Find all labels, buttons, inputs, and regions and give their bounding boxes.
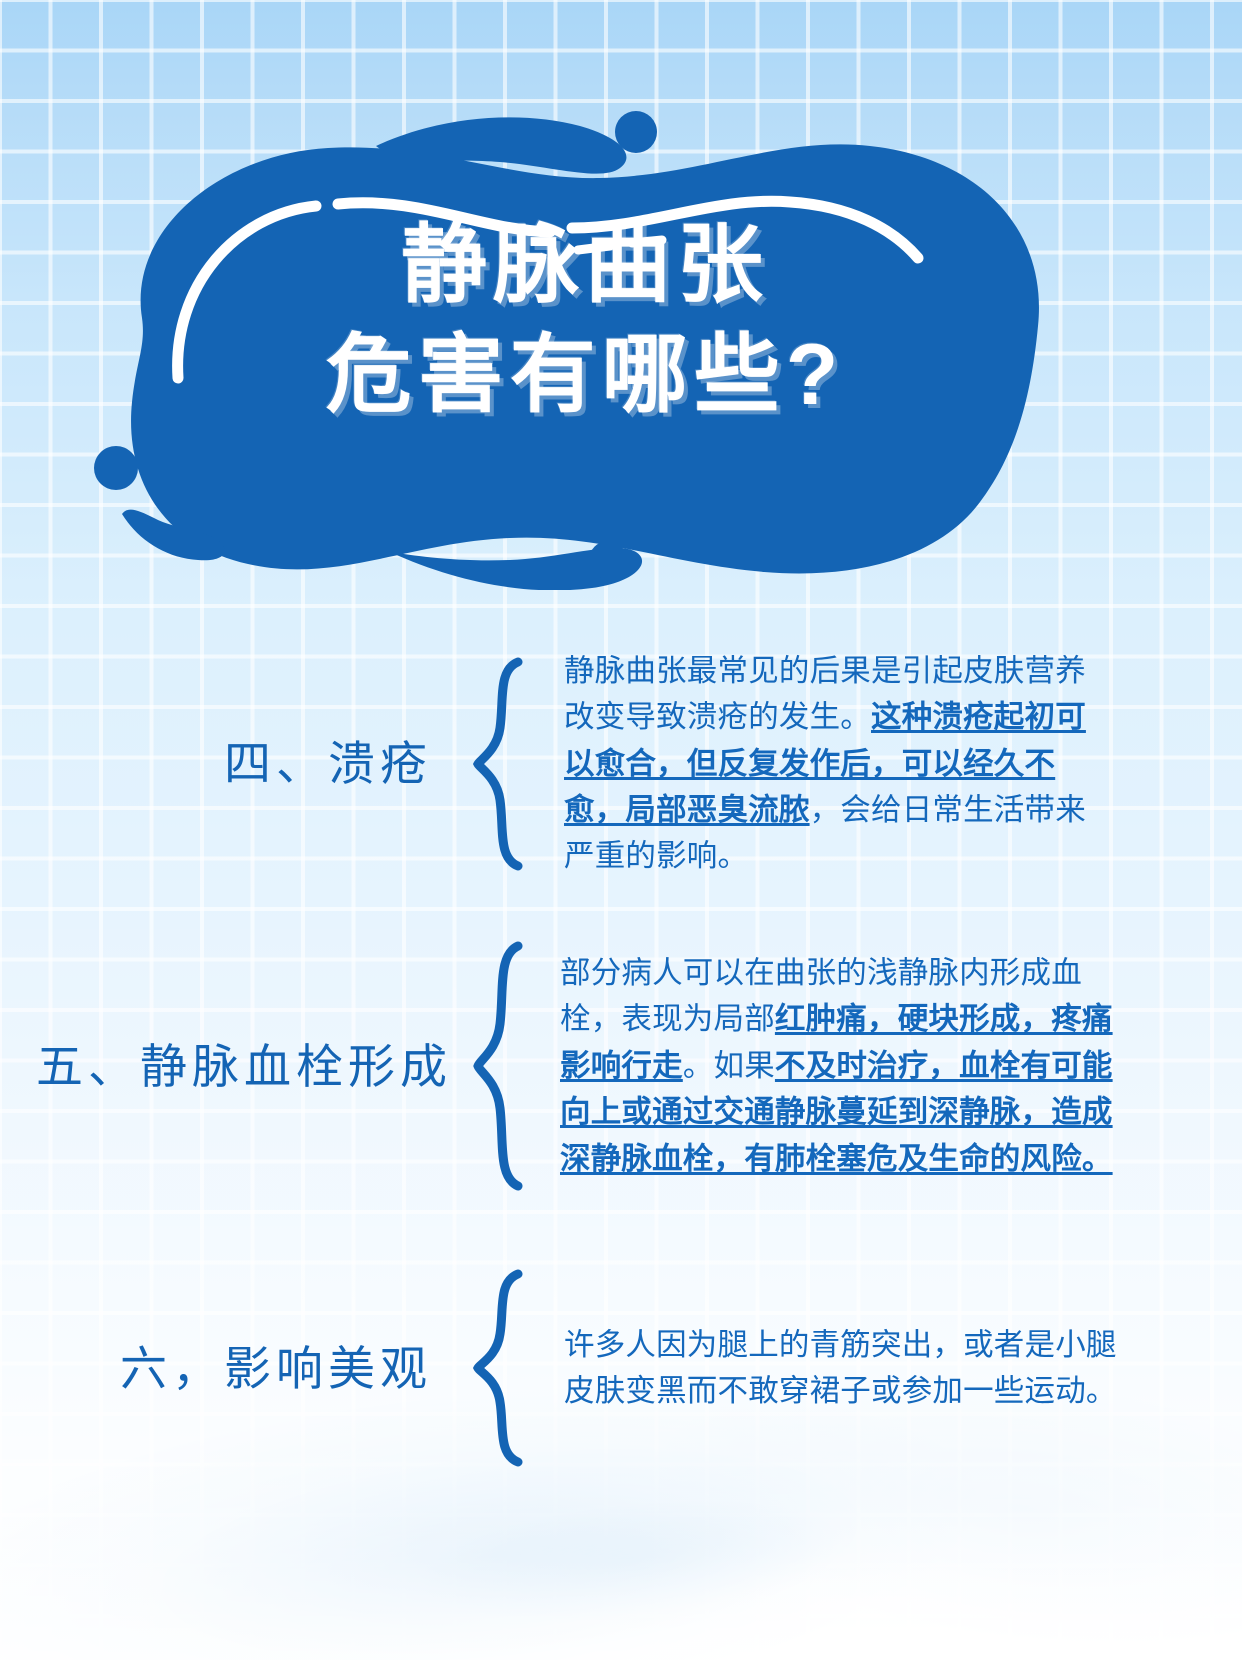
section-5-run-2: 。如果 [683,1049,775,1083]
section-4-body: 静脉曲张最常见的后果是引起皮肤营养改变导致溃疮的发生。这种溃疮起初可以愈合，但反… [532,648,1092,880]
section-4-heading: 四、溃疮 [0,740,470,787]
section-6-run-0: 许多人因为腿上的青筋突出，或者是小腿皮肤变黑而不敢穿裙子或参加一些运动。 [564,1328,1117,1408]
section-5-heading: 五、静脉血栓形成 [0,1043,470,1090]
content-section-5: 五、静脉血栓形成 部分病人可以在曲张的浅静脉内形成血栓，表现为局部红肿痛，硬块形… [0,940,1190,1192]
section-6-body: 许多人因为腿上的青筋突出，或者是小腿皮肤变黑而不敢穿裙子或参加一些运动。 [532,1322,1132,1415]
content-section-4: 四、溃疮 静脉曲张最常见的后果是引起皮肤营养改变导致溃疮的发生。这种溃疮起初可以… [0,648,1190,880]
poster-title: 静脉曲张 危害有哪些? [80,210,1090,430]
section-5-body: 部分病人可以在曲张的浅静脉内形成血栓，表现为局部红肿痛，硬块形成，疼痛影响行走。… [532,950,1132,1182]
curly-brace-icon [470,940,532,1192]
section-6-heading: 六，影响美观 [0,1345,470,1392]
curly-brace-icon [470,1268,532,1468]
content-section-6: 六，影响美观 许多人因为腿上的青筋突出，或者是小腿皮肤变黑而不敢穿裙子或参加一些… [0,1268,1190,1468]
poster-title-line-1: 静脉曲张 [80,210,1090,320]
curly-brace-icon [470,656,532,872]
poster-title-line-2: 危害有哪些? [80,320,1090,430]
poster-canvas: 静脉曲张 危害有哪些? 四、溃疮 静脉曲张最常见的后果是引起皮肤营养改变导致溃疮… [0,0,1242,1660]
title-banner: 静脉曲张 危害有哪些? [80,110,1090,590]
